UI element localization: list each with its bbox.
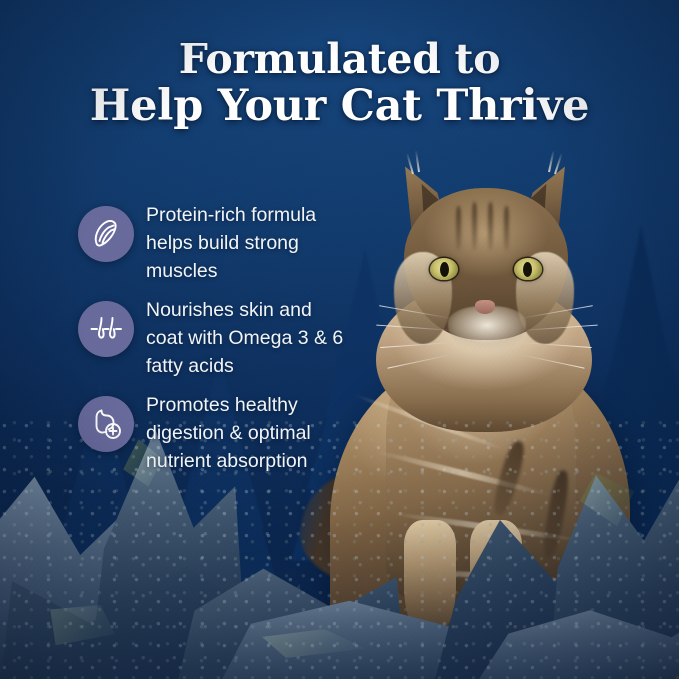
cat-forehead-stripe bbox=[456, 206, 461, 250]
page-title: Formulated to Help Your Cat Thrive bbox=[0, 36, 679, 130]
feature-item-digestion: Promotes healthy digestion & optimal nut… bbox=[70, 390, 350, 476]
feature-list: Protein-rich formula helps build strong … bbox=[70, 200, 350, 485]
cat-ear-tuft bbox=[548, 150, 555, 172]
cat-forehead-stripe bbox=[504, 206, 509, 250]
stomach-plus-icon bbox=[78, 396, 134, 452]
cat-forehead-stripe bbox=[488, 202, 493, 250]
feature-text: Protein-rich formula helps build strong … bbox=[146, 200, 350, 285]
product-feature-banner: Formulated to Help Your Cat Thrive Prote… bbox=[0, 0, 679, 679]
muscle-icon bbox=[78, 206, 134, 262]
cat-ear-tuft bbox=[415, 150, 420, 172]
cat-pupil-right bbox=[523, 262, 532, 277]
feature-text: Nourishes skin and coat with Omega 3 & 6… bbox=[146, 295, 350, 380]
feature-item-skin-coat: Nourishes skin and coat with Omega 3 & 6… bbox=[70, 295, 350, 381]
cat-forehead-stripe bbox=[472, 202, 477, 250]
headline-line-1: Formulated to bbox=[179, 35, 501, 83]
feature-text: Promotes healthy digestion & optimal nut… bbox=[146, 390, 350, 475]
headline-line-2: Help Your Cat Thrive bbox=[0, 83, 679, 130]
feature-item-protein: Protein-rich formula helps build strong … bbox=[70, 200, 350, 286]
cat-pupil-left bbox=[440, 262, 449, 277]
fur-strands-icon bbox=[78, 301, 134, 357]
